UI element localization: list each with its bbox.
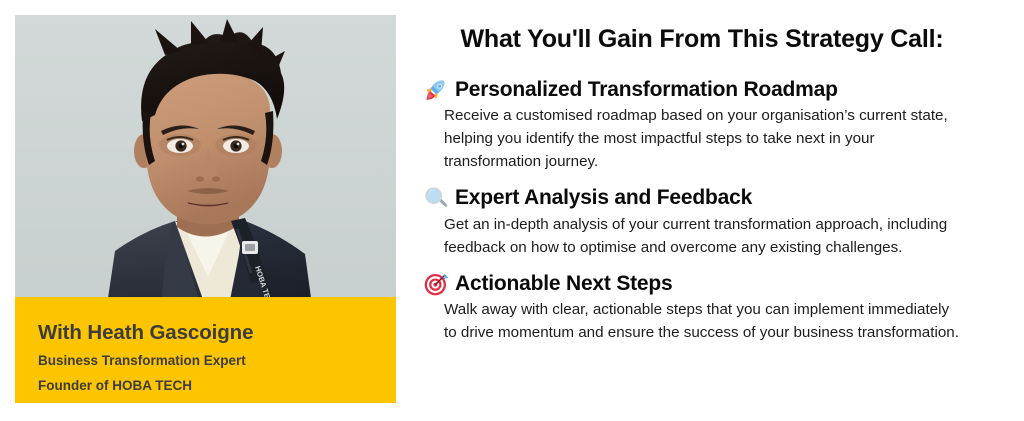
speaker-card: HOBA TECH (15, 15, 396, 403)
benefit-heading-row: Personalized Transformation Roadmap (424, 78, 984, 102)
rocket-icon (424, 78, 448, 102)
benefits-list: Personalized Transformation Roadmap Rece… (424, 78, 984, 357)
benefit-heading: Personalized Transformation Roadmap (455, 78, 838, 102)
benefit-description: Walk away with clear, actionable steps t… (424, 298, 960, 344)
speaker-name: With Heath Gascoigne (38, 323, 396, 344)
benefit-item: Actionable Next Steps Walk away with cle… (424, 272, 984, 344)
benefit-description: Get an in-depth analysis of your current… (424, 213, 960, 259)
magnifying-glass-icon-glyph (424, 186, 448, 210)
rocket-icon-glyph (424, 78, 448, 102)
benefit-item: Expert Analysis and Feedback Get an in-d… (424, 186, 984, 258)
promo-banner: HOBA TECH (0, 0, 1024, 421)
benefits-title: What You'll Gain From This Strategy Call… (424, 26, 980, 54)
headshot-portrait-illustration: HOBA TECH (15, 15, 396, 305)
bullseye-dart-icon (424, 272, 448, 296)
speaker-founder: Founder of HOBA TECH (38, 379, 396, 393)
benefit-heading-row: Expert Analysis and Feedback (424, 186, 984, 210)
bullseye-dart-icon-glyph (424, 272, 448, 296)
magnifying-glass-icon (424, 186, 448, 210)
benefit-item: Personalized Transformation Roadmap Rece… (424, 78, 984, 173)
benefit-description: Receive a customised roadmap based on yo… (424, 104, 960, 173)
benefit-heading: Actionable Next Steps (455, 272, 673, 296)
benefit-heading-row: Actionable Next Steps (424, 272, 984, 296)
speaker-role: Business Transformation Expert (38, 354, 396, 368)
speaker-photo: HOBA TECH (15, 15, 396, 305)
benefit-heading: Expert Analysis and Feedback (455, 186, 752, 210)
speaker-caption-bar: With Heath Gascoigne Business Transforma… (15, 297, 396, 403)
benefits-panel: What You'll Gain From This Strategy Call… (424, 0, 984, 421)
